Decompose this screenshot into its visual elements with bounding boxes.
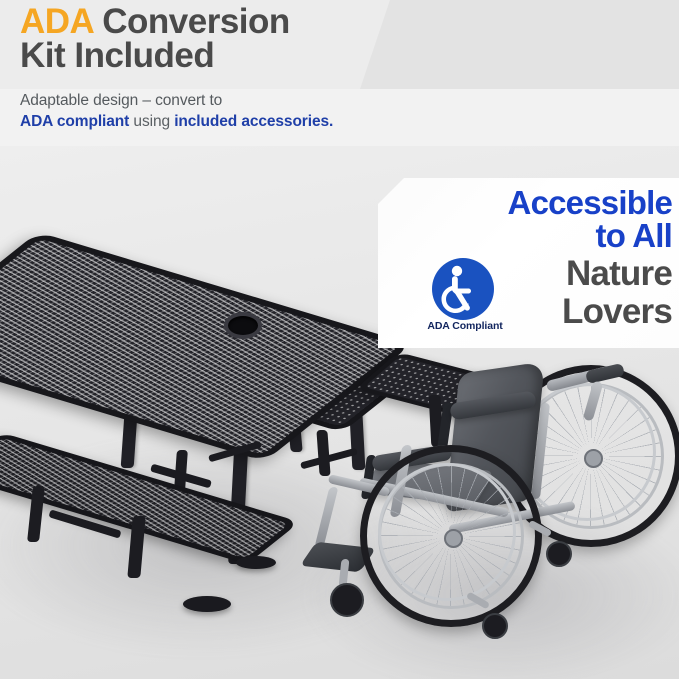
umbrella-hole [224,312,262,339]
chair-frame-tube [315,487,339,547]
subtitle-line-2: ADA compliant using included accessories… [20,113,333,131]
subtitle-bold-ada: ADA compliant [20,113,129,130]
anti-tip-wheel [482,613,508,639]
subtitle-mid: using [129,113,174,130]
wheelchair-accessibility-icon [432,258,494,320]
anti-tip-wheel [546,541,572,567]
product-infographic: ADA Conversion Kit Included Adaptable de… [0,0,679,679]
page-title: ADA Conversion Kit Included [20,5,420,72]
hand-rim [378,463,516,601]
callout-line-2: to All [378,219,672,252]
ada-badge-label: ADA Compliant [418,320,512,332]
mount-base-plate [236,556,276,569]
subtitle-line-1: Adaptable design – convert to [20,92,222,110]
callout-line-1: Accessible [378,186,672,219]
caster-wheel [330,583,364,617]
title-line2: Kit Included [20,36,214,75]
mount-base-plate [183,596,231,612]
ada-compliant-badge: ADA Compliant [426,258,504,336]
subtitle-bold-accessories: included accessories. [174,113,333,130]
callout-line-3: Nature [500,256,672,291]
wheelchair [300,345,679,645]
